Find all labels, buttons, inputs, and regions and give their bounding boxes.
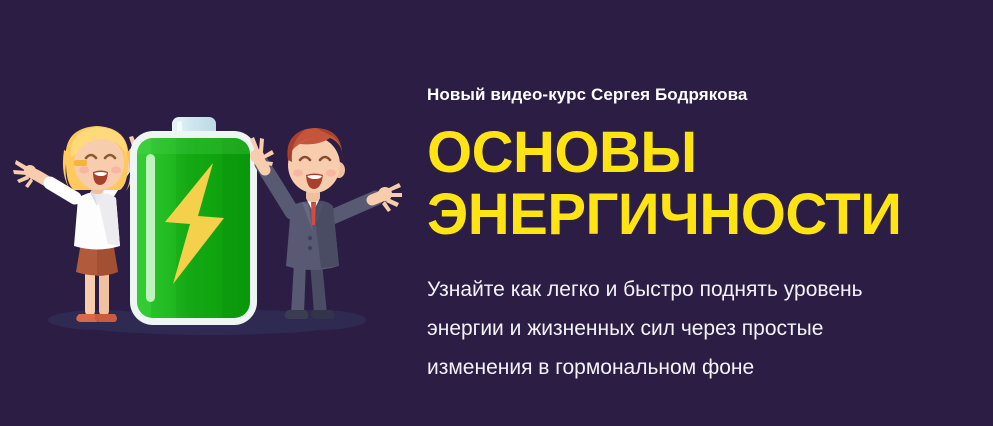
man-right-arm: [330, 183, 402, 218]
page-title: ОСНОВЫ ЭНЕРГИЧНОСТИ: [427, 122, 972, 246]
subtitle-line-2: энергии и жизненных сил через простые: [427, 309, 972, 348]
illustration-svg: [0, 0, 420, 426]
hero-copy: Новый видео-курс Сергея Бодрякова ОСНОВЫ…: [427, 84, 972, 387]
woman-blouse: [74, 188, 120, 250]
battery-icon: [130, 117, 257, 325]
headline-line-2: ЭНЕРГИЧНОСТИ: [427, 184, 972, 246]
subtitle-line-1: Узнайте как легко и быстро поднять урове…: [427, 270, 972, 309]
man-head: [287, 128, 345, 193]
eyebrow-text: Новый видео-курс Сергея Бодрякова: [427, 84, 972, 106]
character-man: [250, 128, 402, 319]
subtitle-text: Узнайте как легко и быстро поднять урове…: [427, 270, 972, 387]
promo-banner: Новый видео-курс Сергея Бодрякова ОСНОВЫ…: [0, 0, 993, 426]
woman-head: [63, 126, 133, 191]
hero-illustration: [0, 0, 420, 426]
headline-line-1: ОСНОВЫ: [427, 122, 972, 184]
subtitle-line-3: изменения в гормональном фоне: [427, 348, 972, 387]
